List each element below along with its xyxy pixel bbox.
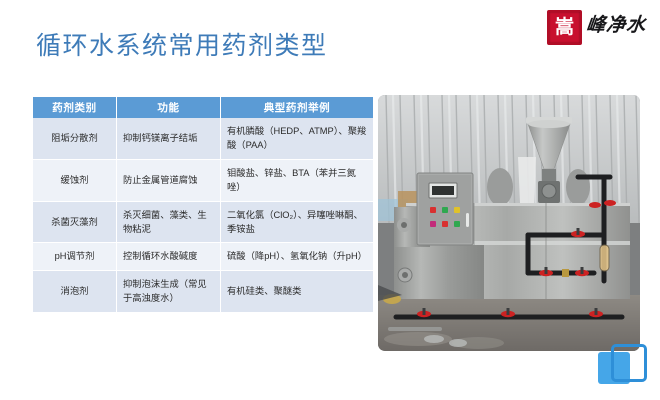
cell-examples: 二氧化氯（ClO₂）、异噻唑啉酮、季铵盐 [221,201,374,243]
cell-category: 缓蚀剂 [33,159,117,201]
table-row: 缓蚀剂 防止金属管道腐蚀 钼酸盐、锌盐、BTA（苯并三氮唑） [33,159,373,201]
column-header-function: 功能 [117,97,221,118]
column-header-examples: 典型药剂举例 [221,97,374,118]
decorative-outline-square-icon [611,344,647,382]
column-header-category: 药剂类别 [33,97,117,118]
cell-examples: 硫酸（降pH）、氢氧化钠（升pH） [221,243,374,270]
cell-function: 抑制泡沫生成（常见于高浊度水） [117,270,221,312]
table-row: 消泡剂 抑制泡沫生成（常见于高浊度水） 有机硅类、聚醚类 [33,270,373,312]
equipment-photo-illustration [378,95,640,351]
slide-canvas: 嵩 峰净水 循环水系统常用药剂类型 药剂类别 功能 典型药剂举例 阻垢分散剂 抑… [0,0,660,400]
table-row: pH调节剂 控制循环水酸碱度 硫酸（降pH）、氢氧化钠（升pH） [33,243,373,270]
cell-function: 控制循环水酸碱度 [117,243,221,270]
cell-function: 抑制钙镁离子结垢 [117,118,221,159]
cell-category: 消泡剂 [33,270,117,312]
cell-examples: 有机硅类、聚醚类 [221,270,374,312]
table-row: 阻垢分散剂 抑制钙镁离子结垢 有机膦酸（HEDP、ATMP）、聚羧酸（PAA） [33,118,373,159]
cell-examples: 钼酸盐、锌盐、BTA（苯并三氮唑） [221,159,374,201]
table-row: 杀菌灭藻剂 杀灭细菌、藻类、生物粘泥 二氧化氯（ClO₂）、异噻唑啉酮、季铵盐 [33,201,373,243]
equipment-photo [378,95,640,351]
cell-category: 阻垢分散剂 [33,118,117,159]
logo-wordmark: 峰净水 [585,16,647,38]
cell-function: 杀灭细菌、藻类、生物粘泥 [117,201,221,243]
cell-examples: 有机膦酸（HEDP、ATMP）、聚羧酸（PAA） [221,118,374,159]
logo-seal-icon: 嵩 [547,10,582,45]
chemical-types-table: 药剂类别 功能 典型药剂举例 阻垢分散剂 抑制钙镁离子结垢 有机膦酸（HEDP、… [33,97,353,313]
table-header-row: 药剂类别 功能 典型药剂举例 [33,97,373,118]
page-title: 循环水系统常用药剂类型 [36,31,328,61]
cell-category: 杀菌灭藻剂 [33,201,117,243]
decorative-squares [598,344,650,388]
cell-category: pH调节剂 [33,243,117,270]
company-logo: 嵩 峰净水 [547,10,646,44]
cell-function: 防止金属管道腐蚀 [117,159,221,201]
